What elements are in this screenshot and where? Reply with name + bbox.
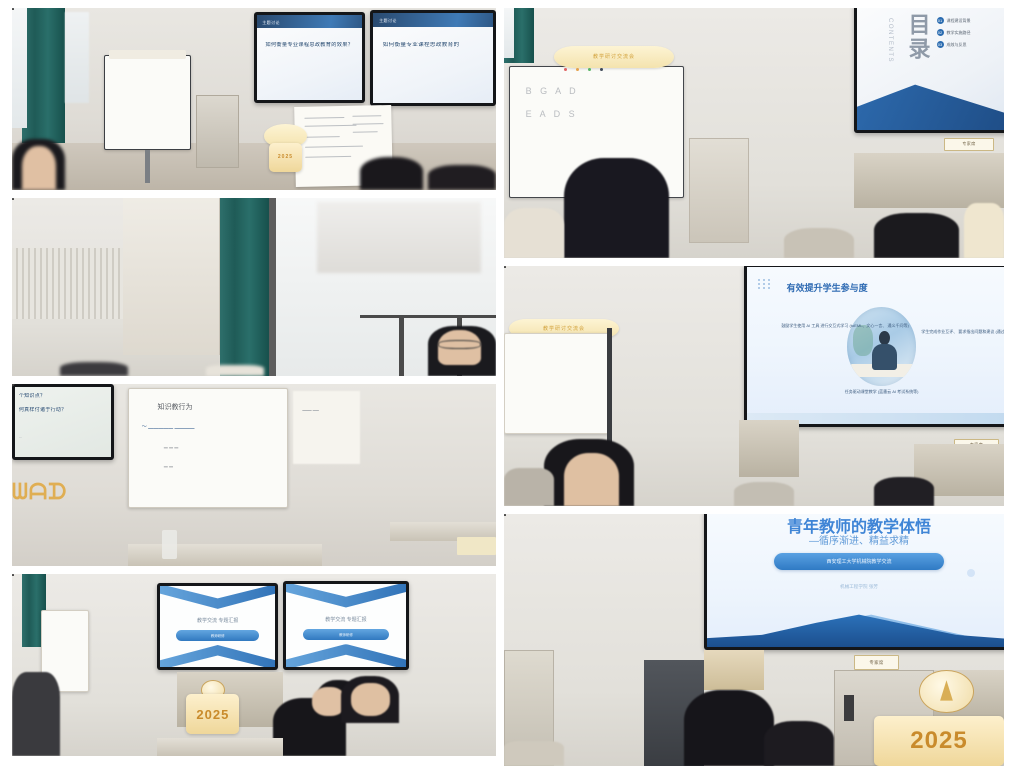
photo-two-women-standing-monitors: 教学交流 专题汇报 教师研修 教学交流 专题汇报 教师研修 (12, 574, 496, 756)
year-plaque: 2025 (269, 143, 303, 172)
photo-woman-microphone-seated-group: 个知识点？ 何真样付诸于行动？ — 知识教行为 ～ ▁▁▁▁▁ ▁▁▁▁ ▁ ▁… (12, 384, 496, 566)
slide-pill: 教师研修 (303, 629, 389, 640)
slide-title: 有效提升学生参与度 (787, 281, 868, 294)
contents-label: 教学实施路径 (947, 30, 971, 36)
slide-question-line-2: 何真样付诸于行动？ (19, 407, 105, 414)
deco-banner: 教学研讨交流会 (554, 46, 674, 69)
slide-question-line-1: 个知识点？ (19, 393, 105, 400)
display-left: 教学交流 专题汇报 教师研修 (157, 583, 278, 670)
display-left: 个知识点？ 何真样付诸于行动？ — (12, 384, 114, 460)
contents-number: 02 (937, 29, 944, 36)
seal-emblem (919, 670, 974, 713)
contents-item: 01 课程建设背景 (937, 17, 971, 24)
whiteboard-heading: 知识教行为 (158, 403, 193, 414)
photo-group-discussion-presentation: 主题讨论 如何衡量专业课程思政教育的效果？ 主题讨论 如何衡量专业课程思政教育的 (12, 8, 496, 190)
slide-title: 教学交流 专题汇报 (160, 617, 275, 624)
contents-label: 成效与反思 (947, 42, 967, 48)
whiteboard: 知识教行为 ～ ▁▁▁▁▁ ▁▁▁▁ ▁ ▁ ▁ ▁ ▁ (128, 388, 288, 508)
slide-title: 教学交流 专题汇报 (286, 616, 406, 623)
slide-subtitle: —循序渐进、精益求精 (707, 532, 1004, 547)
display-right: 教学交流 专题汇报 教师研修 (283, 581, 409, 670)
nameplate: 专家席 (854, 655, 899, 670)
slide-caption-bottom: 任务驱动课堂教学 (蓝墨云 AI 考试系统等) (842, 389, 921, 395)
photo-man-presenting-contents-slide: B G A D E A D S 教学研讨交流会 目录 (504, 8, 1004, 258)
slide-pill: 教师研修 (176, 630, 259, 641)
slide-question-text: 如何衡量专业课程思政教育的效果？ (265, 42, 356, 49)
slide-label: 主题讨论 (379, 18, 397, 24)
display-engagement: 有效提升学生参与度 鼓励学生使用 AI 工具 进行交互式学习 (toEML、文心… (744, 266, 1004, 427)
whiteboard (104, 55, 191, 150)
slide-question-text: 如何衡量专业课程思政教育的 (383, 42, 486, 50)
display-left: 主题讨论 如何衡量专业课程思政教育的效果？ (254, 12, 365, 103)
slide-label: 主题讨论 (262, 20, 280, 26)
photo-man-presenting-engagement-slide: 教学研讨交流会 有效提升学生参与度 (504, 266, 1004, 506)
collage-column-left: 主题讨论 如何衡量专业课程思政教育的效果？ 主题讨论 如何衡量专业课程思政教育的 (12, 8, 496, 758)
year-plaque: 2025 (874, 716, 1004, 766)
slide-footer: 机械工程学院 张芳 (707, 584, 1004, 590)
contents-item: 02 教学实施路径 (937, 29, 971, 36)
slide-caption-right: 学生完成作业互评、 要求指出问题和建议 (通过 AI 工具) (921, 329, 990, 335)
photo-collage: 主题讨论 如何衡量专业课程思政教育的效果？ 主题讨论 如何衡量专业课程思政教育的 (0, 0, 1024, 768)
slide-title-cn: 目录 (902, 13, 934, 61)
contents-number: 01 (937, 17, 944, 24)
banner-text: 教学研讨交流会 (554, 46, 674, 69)
slide-pill: 西安理工大学机械院教学交流 (774, 553, 944, 571)
photo-two-men-talking (12, 198, 496, 376)
year-plaque: 2025 (186, 694, 239, 734)
contents-number: 03 (937, 41, 944, 48)
display-right: 主题讨论 如何衡量专业课程思政教育的 (370, 10, 496, 106)
display-youth-teacher: 青年教师的教学体悟 —循序渐进、精益求精 西安理工大学机械院教学交流 机械工程学… (704, 514, 1004, 650)
contents-label: 课程建设背景 (947, 18, 971, 24)
display-contents: 目录 CONTENTS 01 课程建设背景 02 教学实施路径 (854, 8, 1004, 133)
photo-woman-presenting-blue-slide: 青年教师的教学体悟 —循序渐进、精益求精 西安理工大学机械院教学交流 机械工程学… (504, 514, 1004, 766)
slide-caption-left: 鼓励学生使用 AI 工具 进行交互式学习 (toEML、文心一言、 通义千问等) (781, 323, 844, 329)
slide-title-en: CONTENTS (887, 18, 893, 63)
nameplate: 专家席 (944, 138, 994, 151)
contents-item: 03 成效与反思 (937, 41, 971, 48)
collage-column-right: B G A D E A D S 教学研讨交流会 目录 (504, 8, 1004, 758)
